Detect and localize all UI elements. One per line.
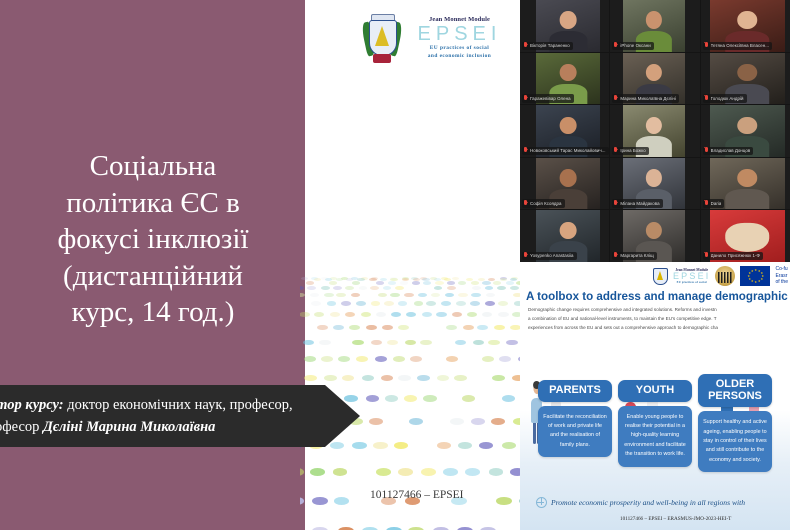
muted-microphone-icon (705, 200, 709, 207)
pattern-dot (356, 301, 366, 306)
muted-microphone-icon (524, 42, 528, 49)
pattern-dot (356, 356, 368, 362)
author-banner-line-1: Автор курсу: доктор економічних наук, пр… (0, 394, 360, 416)
video-tile[interactable]: Софія Ксоядра (520, 158, 609, 210)
pattern-dot (344, 395, 357, 402)
pattern-dot (378, 293, 387, 298)
eu-star-icon: ★ (748, 278, 750, 280)
pattern-dot (494, 325, 505, 330)
pattern-dot (445, 293, 454, 298)
pattern-dot (418, 293, 427, 298)
muted-microphone-icon (524, 147, 528, 154)
pattern-dot (375, 356, 387, 362)
pattern-dot (398, 375, 411, 381)
pattern-dot (498, 312, 508, 317)
pattern-dot (314, 278, 322, 282)
promote-text: Promote economic prosperity and well-bei… (551, 498, 745, 507)
pattern-dot (371, 301, 381, 306)
participant-name-bar: Yosypenko Anastasiia (522, 252, 577, 261)
pattern-dot (412, 281, 420, 285)
pattern-dot (321, 356, 333, 362)
pattern-dot (330, 442, 344, 449)
paragraph-line-1: Demographic change requires comprehensiv… (528, 306, 790, 315)
video-tile[interactable]: Марина Миколаївна Дєліні (610, 53, 699, 105)
pattern-dot (405, 340, 417, 346)
pattern-dot (446, 356, 458, 362)
pattern-dot (423, 281, 431, 285)
participant-head (560, 222, 577, 240)
pattern-dot (300, 468, 304, 476)
slide-title-line-5: курс, 14 год.) (0, 294, 312, 331)
participant-name: Вікторія Тараненко (530, 43, 570, 48)
pillar-parents[interactable]: PARENTSFacilitate the reconciliation of … (538, 380, 612, 457)
video-tile[interactable]: Новоковський Тарас Миколайович... (520, 105, 609, 157)
author-name: Дєліні Марина Миколаївна (43, 419, 215, 435)
pattern-dot (485, 286, 494, 290)
pattern-dot (510, 468, 520, 476)
pattern-dot (488, 340, 500, 346)
pattern-dot (398, 301, 408, 306)
author-label: Автор курсу: (0, 397, 64, 413)
pattern-dot (394, 442, 408, 449)
pattern-dot (404, 293, 413, 298)
pattern-dot (447, 281, 455, 285)
pattern-dot (388, 281, 396, 285)
participant-name: Yosypenko Anastasiia (530, 253, 574, 258)
mini-epsei-wordmark: EPSEI (673, 272, 711, 281)
pattern-dot (502, 395, 515, 402)
participant-name: Софія Ксоядра (530, 201, 562, 206)
pattern-dot (383, 286, 392, 290)
infographic-logo-strip: Jean Monnet Module EPSEI EU practices of… (520, 264, 790, 288)
co-funded-line-1: Co-fu (775, 266, 788, 273)
muted-microphone-icon (705, 252, 709, 259)
slide-title: Соціальнаполітика ЄС вфокусі інклюзії(ди… (0, 148, 312, 331)
pattern-dot (462, 395, 475, 402)
pattern-dot (486, 293, 495, 298)
pattern-dot (499, 356, 511, 362)
pillar-heading: PARENTS (538, 380, 612, 402)
pattern-dot (472, 286, 481, 290)
author-banner-line-2: професор Дєліні Марина Миколаївна (0, 416, 360, 438)
pillar-heading: YOUTH (618, 380, 692, 402)
participant-name-bar: Тетяна Олексіївна Власен... (703, 42, 772, 51)
pattern-dot (482, 281, 490, 285)
participant-name-bar: Софія Ксоядра (522, 199, 565, 208)
pattern-dot (327, 301, 337, 306)
mini-university-crest-icon (651, 266, 668, 286)
pattern-dot (359, 286, 368, 290)
eu-star-icon: ★ (754, 269, 756, 271)
muted-microphone-icon (524, 95, 528, 102)
video-tile[interactable]: Голодюк Андрій (701, 53, 790, 105)
pattern-dot (512, 312, 520, 317)
pattern-dot (376, 312, 386, 317)
participant-head (646, 169, 662, 187)
pattern-dot (352, 340, 364, 346)
video-conference-grid[interactable]: Вікторія ТараненкоiPhone ОксаниТетяна Ол… (520, 0, 790, 262)
jean-monnet-label: Jean Monnet Module (404, 16, 515, 23)
pattern-dot (333, 468, 348, 476)
pattern-dot (329, 281, 337, 285)
pattern-dot (352, 281, 360, 285)
pattern-dot (381, 375, 394, 381)
participant-name: Гаражевівар Олена (530, 96, 571, 101)
pattern-dot (349, 325, 360, 330)
pattern-dot (336, 293, 345, 298)
pattern-dot (371, 340, 383, 346)
participant-name-bar: Новоковський Тарас Миколайович... (522, 147, 609, 156)
muted-microphone-icon (524, 252, 528, 259)
video-tile[interactable]: Владислав Донцов (701, 105, 790, 157)
pattern-dot (510, 325, 520, 330)
pattern-dot (431, 293, 440, 298)
pattern-dot (426, 301, 436, 306)
pattern-dot (303, 340, 315, 346)
pattern-dot (384, 301, 394, 306)
video-tile[interactable]: Тетяна Олексіївна Власен... (701, 0, 790, 52)
pattern-dot (471, 281, 479, 285)
participant-name: Мілана Майдакова (620, 201, 659, 206)
muted-microphone-icon (705, 95, 709, 102)
video-tile[interactable]: Данило Присяжнюк 1-Ф (701, 210, 790, 262)
video-tile[interactable]: Ірина Божко (610, 105, 699, 157)
pattern-dot (338, 356, 350, 362)
pattern-dot (482, 356, 494, 362)
pattern-dot (366, 325, 377, 330)
participant-name-bar: Гаражевівар Олена (522, 94, 574, 103)
pattern-dot (493, 281, 501, 285)
mini-epsei-subtitle: EU practices of social (673, 281, 711, 284)
video-tile[interactable]: Гаражевівар Олена (520, 53, 609, 105)
pattern-dot (441, 301, 451, 306)
pattern-dot (336, 278, 344, 282)
pattern-dot (421, 468, 436, 476)
eu-star-icon: ★ (754, 281, 756, 283)
pattern-dot (467, 312, 477, 317)
infographic-paragraph: Demographic change requires comprehensiv… (528, 306, 790, 333)
pattern-dot (443, 468, 458, 476)
pattern-dot (409, 418, 423, 425)
pattern-dot (498, 301, 508, 306)
video-tile[interactable]: Daria (701, 158, 790, 210)
eu-flag-icon: ★★★★★★★★★★★★ (740, 266, 770, 286)
participant-head (737, 11, 757, 29)
epsei-wordmark: EPSEI (404, 24, 515, 44)
pattern-dot (373, 442, 387, 449)
pattern-dot (450, 418, 464, 425)
epsei-subtitle-line1: EU practices of social (430, 45, 489, 51)
pillar-older-persons[interactable]: OLDER PERSONSSupport healthy and active … (698, 374, 772, 472)
pillar-body: Facilitate the reconciliation of work an… (538, 406, 612, 458)
pattern-dot (393, 356, 405, 362)
pattern-dot (510, 286, 519, 290)
pattern-dot (382, 325, 393, 330)
paragraph-line-2: a combination of EU and national-level i… (528, 315, 790, 324)
pattern-dot (395, 286, 404, 290)
pattern-dot (447, 286, 456, 290)
pattern-dot (502, 442, 516, 449)
video-tile[interactable]: Мілана Майдакова (610, 158, 699, 210)
epsei-subtitle-line2: and economic inclusion (428, 53, 492, 59)
participant-name: Daria (711, 201, 722, 206)
pattern-dot (330, 312, 340, 317)
muted-microphone-icon (614, 147, 618, 154)
pattern-dot (497, 286, 506, 290)
pattern-dot (300, 497, 304, 505)
pattern-dot (404, 395, 417, 402)
pattern-dot (446, 325, 457, 330)
eu-star-icon: ★ (747, 275, 749, 277)
pattern-dot (435, 281, 443, 285)
pattern-dot (369, 418, 383, 425)
participant-name: Маргарита Кліщ (620, 253, 653, 258)
pattern-dot (485, 301, 495, 306)
pattern-dot (506, 340, 518, 346)
eu-star-icon: ★ (758, 280, 760, 282)
participant-name-bar: Daria (703, 199, 725, 208)
participant-body (725, 189, 769, 210)
slide-title-line-3: фокусі інклюзії (0, 221, 312, 258)
slide-title-line-2: політика ЄС в (0, 185, 312, 222)
muted-microphone-icon (705, 147, 709, 154)
pattern-dot (482, 312, 492, 317)
pattern-dot (361, 312, 371, 317)
pattern-dot (310, 468, 325, 476)
pattern-dot (458, 442, 472, 449)
pattern-dot (473, 340, 485, 346)
pattern-dot (456, 301, 466, 306)
pattern-dot (333, 286, 342, 290)
pattern-dot (398, 325, 409, 330)
pattern-dot (333, 325, 344, 330)
university-crest-icon (365, 14, 399, 66)
participant-name: Ірина Божко (620, 148, 645, 153)
pattern-dot (489, 468, 504, 476)
participant-name-bar: Вікторія Тараненко (522, 42, 573, 51)
pattern-dot (477, 325, 488, 330)
co-funded-line-2: Erasr (775, 273, 788, 280)
pattern-dot (492, 375, 505, 381)
muted-microphone-icon (614, 200, 618, 207)
pattern-dot (410, 356, 422, 362)
pillar-youth[interactable]: YOUTHEnable young people to realise thei… (618, 380, 692, 467)
pattern-dot (434, 286, 443, 290)
infographic-footer-code: 101127466 – EPSEI – ERASMUS-JMO-2023-HEI… (620, 516, 731, 522)
pattern-dot (465, 468, 480, 476)
muted-microphone-icon (614, 42, 618, 49)
pattern-dot (455, 340, 467, 346)
pattern-dot (312, 497, 327, 505)
pattern-dot (387, 340, 399, 346)
participant-head (737, 64, 757, 82)
pattern-dot (458, 281, 466, 285)
pattern-dot (376, 468, 391, 476)
slide-title-line-4: (дистанційний (0, 258, 312, 295)
pattern-dot (351, 293, 360, 298)
pattern-dot (345, 312, 355, 317)
participant-name-bar: Владислав Донцов (703, 147, 754, 156)
pattern-dot (304, 375, 317, 381)
pattern-dot (437, 442, 451, 449)
pattern-dot (436, 312, 446, 317)
jean-monnet-epsei-logo: Jean Monnet Module EPSEI EU practices of… (365, 14, 515, 76)
eu-star-icon: ★ (751, 270, 753, 272)
pattern-dot (513, 293, 520, 298)
presentation-title-slide: Jean Monnet Module EPSEI EU practices of… (0, 0, 520, 530)
slide-title-line-1: Соціальна (0, 148, 312, 185)
pattern-dot (417, 375, 430, 381)
mini-epsei-logo: Jean Monnet Module EPSEI EU practices of… (673, 268, 711, 284)
video-tile[interactable]: Маргарита Кліщ (610, 210, 699, 262)
pattern-dot (463, 325, 474, 330)
participant-head (646, 11, 662, 29)
pattern-dot (513, 418, 520, 425)
pattern-dot (479, 442, 493, 449)
pattern-dot (321, 286, 330, 290)
participant-head (737, 169, 757, 187)
muted-microphone-icon (614, 95, 618, 102)
participant-head (646, 117, 662, 135)
pattern-dot (458, 293, 467, 298)
author-rank: професор (0, 419, 43, 435)
pattern-dot (496, 497, 511, 505)
pattern-dot (406, 312, 416, 317)
pattern-dot (324, 375, 337, 381)
pillar-body: Support healthy and active ageing, enabl… (698, 411, 772, 472)
video-tile[interactable]: iPhone Оксани (610, 0, 699, 52)
slide-project-code: 101127466 – EPSEI (370, 489, 464, 501)
demographic-toolbox-infographic: Jean Monnet Module EPSEI EU practices of… (520, 262, 790, 530)
epsei-subtitle: EU practices of social and economic incl… (404, 45, 515, 61)
pattern-dot (400, 281, 408, 285)
paragraph-line-3: experiences from across the EU and sets … (528, 324, 790, 333)
video-tile[interactable]: Yosypenko Anastasiia (520, 210, 609, 262)
pattern-dot (319, 340, 331, 346)
pattern-dot (317, 325, 328, 330)
infographic-title: A toolbox to address and manage demograp… (526, 290, 790, 303)
globe-icon (536, 497, 547, 508)
participant-name-bar: iPhone Оксани (612, 42, 653, 51)
pillar-heading: OLDER PERSONS (698, 374, 772, 407)
pattern-dot (366, 395, 379, 402)
pattern-dot (452, 277, 459, 280)
pattern-dot (390, 293, 399, 298)
eu-star-icon: ★ (751, 280, 753, 282)
pattern-dot (385, 395, 398, 402)
pattern-dot (362, 375, 375, 381)
participant-name-bar: Данило Присяжнюк 1-Ф (703, 252, 763, 261)
pattern-dot (471, 418, 485, 425)
participant-name-bar: Голодюк Андрій (703, 94, 747, 103)
participant-head (560, 117, 577, 135)
pattern-dot (398, 468, 413, 476)
pattern-dot (341, 301, 351, 306)
participant-name-bar: Мілана Майдакова (612, 199, 662, 208)
pattern-dot (311, 301, 321, 306)
participant-name: Марина Миколаївна Дєліні (620, 96, 676, 101)
pattern-dot (370, 286, 379, 290)
author-banner: Автор курсу: доктор економічних наук, пр… (0, 385, 360, 447)
participant-head (737, 117, 757, 135)
gold-emblem-icon (715, 266, 735, 286)
participant-head (646, 64, 662, 82)
pattern-dot (420, 340, 432, 346)
video-tile[interactable]: Вікторія Тараненко (520, 0, 609, 52)
pattern-dot (470, 301, 480, 306)
pattern-dot (376, 281, 384, 285)
pattern-dot (334, 497, 349, 505)
muted-microphone-icon (705, 42, 709, 49)
pattern-dot (454, 375, 467, 381)
participant-name-bar: Маргарита Кліщ (612, 252, 656, 261)
muted-microphone-icon (614, 252, 618, 259)
pattern-dot (423, 395, 436, 402)
pattern-dot (506, 281, 514, 285)
co-funded-text: Co-fu Erasr of the (775, 266, 788, 286)
participant-name: iPhone Оксани (620, 43, 650, 48)
pattern-dot (512, 375, 520, 381)
pattern-dot (324, 293, 333, 298)
participant-head (560, 11, 577, 29)
pattern-dot (304, 356, 316, 362)
pattern-dot (345, 286, 354, 290)
participant-name: Тетяна Олексіївна Власен... (711, 43, 769, 48)
pattern-dot (352, 442, 366, 449)
participant-name: Новоковський Тарас Миколайович... (530, 148, 606, 153)
pattern-dot (491, 418, 505, 425)
pillar-body: Enable young people to realise their pot… (618, 406, 692, 467)
pattern-dot (391, 312, 401, 317)
author-degree: доктор економічних наук, професор, (64, 397, 293, 413)
pattern-dot (437, 375, 450, 381)
promote-statement: Promote economic prosperity and well-bei… (536, 497, 786, 508)
participant-name: Голодюк Андрій (711, 96, 744, 101)
pattern-dot (471, 293, 480, 298)
screenshot-root: Jean Monnet Module EPSEI EU practices of… (0, 0, 790, 530)
participant-name: Данило Присяжнюк 1-Ф (711, 253, 760, 258)
pattern-dot (414, 301, 424, 306)
pattern-dot (342, 375, 355, 381)
participant-head (560, 169, 577, 187)
participant-name-bar: Ірина Божко (612, 147, 648, 156)
co-funded-line-3: of the (775, 279, 788, 286)
participant-head (560, 64, 577, 82)
participant-name: Владислав Донцов (711, 148, 751, 153)
muted-microphone-icon (524, 200, 528, 207)
participant-head (646, 222, 662, 240)
cat-avatar-icon (725, 223, 769, 251)
pattern-dot (452, 312, 462, 317)
pattern-dot (422, 312, 432, 317)
participant-name-bar: Марина Миколаївна Дєліні (612, 94, 679, 103)
pattern-dot (314, 312, 324, 317)
